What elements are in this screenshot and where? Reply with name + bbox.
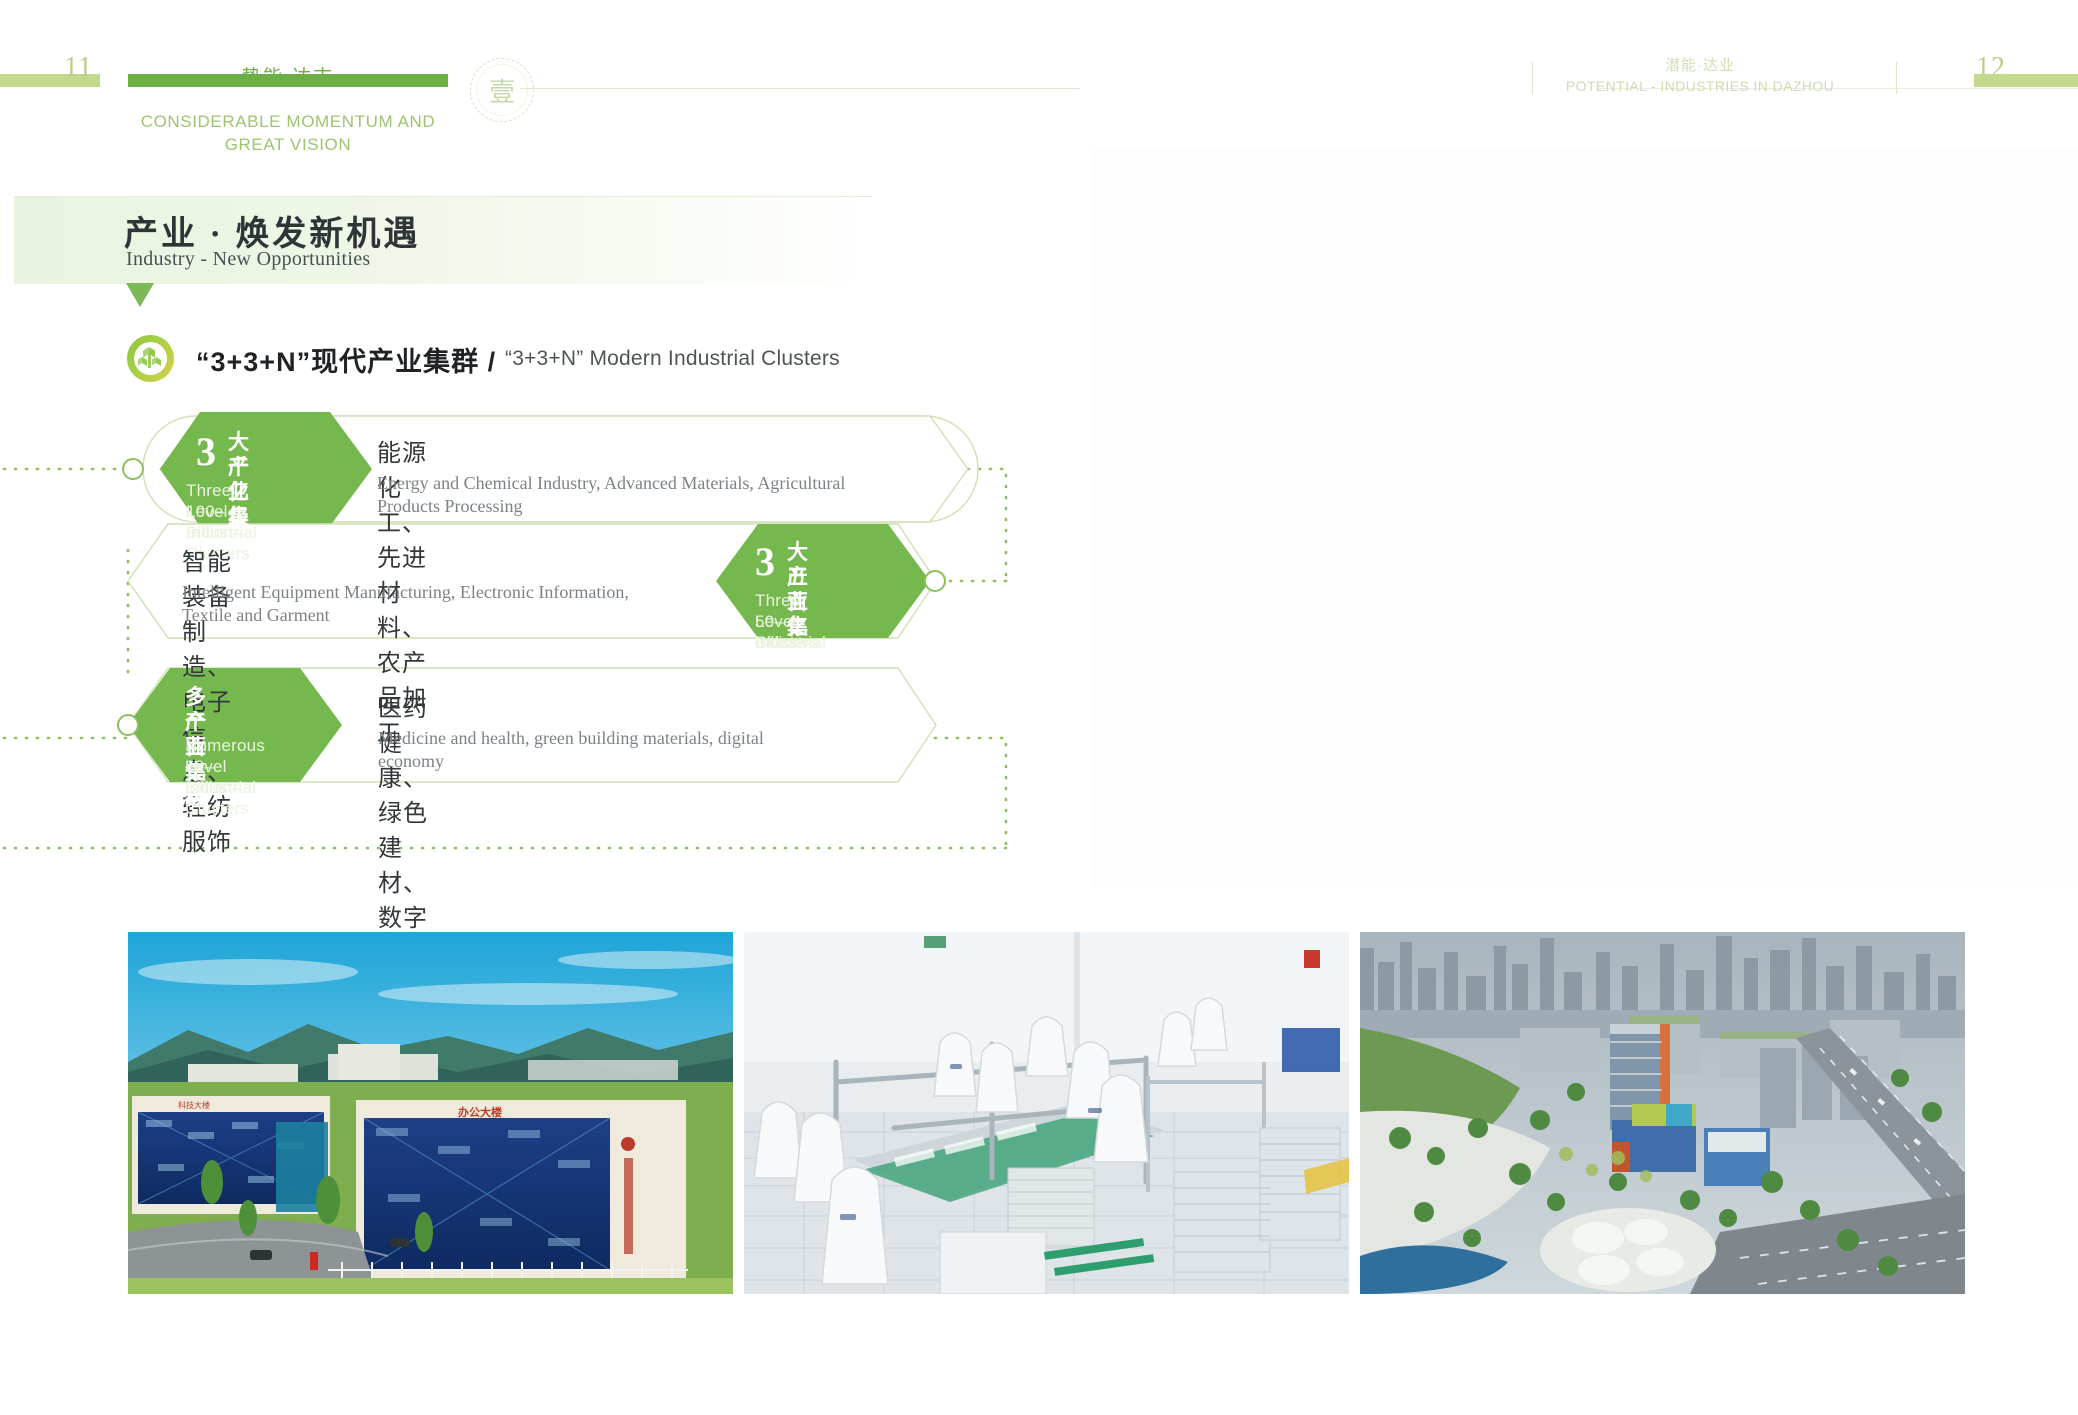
photo-office-building-campus: 科技大楼 办公大楼 (128, 932, 733, 1294)
cluster-2-body-en: Intelligent Equipment Manufacturing, Ele… (182, 581, 682, 627)
photo-cleanroom-electronics-factory (744, 932, 1349, 1294)
cluster-3-tag-en-line2: Level Industrial Clusters (185, 756, 256, 819)
header-chapter-en: POTENTIAL - INDUSTRIES IN DAZHOU (1525, 78, 1875, 94)
seal-stamp-icon: 壹 (470, 58, 534, 122)
page-title-en: Industry - New Opportunities (126, 248, 370, 271)
header-title-en: CONSIDERABLE MOMENTUM AND GREAT VISION (118, 110, 458, 156)
cluster-1-number: 3 (196, 432, 216, 472)
cluster-2-tag-en-line3: Clusters (755, 632, 819, 653)
photo-aerial-city-rendering (1360, 932, 1965, 1294)
header-chapter-cn: 潜能·达业 (1570, 54, 1830, 75)
slide-page: 11 势能·达志 CONSIDERABLE MOMENTUM AND GREAT… (0, 0, 2078, 1415)
cluster-1-body-en: Energy and Chemical Industry, Advanced M… (377, 472, 877, 518)
cluster-3-body-en: Medicine and health, green building mate… (378, 727, 808, 773)
header-title-cn: 势能·达志 (128, 62, 448, 89)
section-title-en: “3+3+N” Modern Industrial Clusters (505, 347, 840, 371)
svg-text:办公大楼: 办公大楼 (458, 1105, 502, 1119)
svg-text:科技大楼: 科技大楼 (178, 1100, 210, 1110)
industry-cluster-icon (127, 335, 174, 382)
cluster-2-number: 3 (755, 542, 775, 582)
header-rule-left (520, 88, 1080, 89)
header-bar-right (1974, 74, 2078, 87)
page-number-left: 11 (64, 52, 93, 84)
section-title-cn: “3+3+N”现代产业集群 / (196, 340, 496, 379)
title-caret-icon (126, 283, 154, 307)
header-divider-right (1896, 62, 1897, 94)
cluster-flow-diagram: 3 大千亿级 产业集群 Three 100–Billion– Level Ind… (0, 400, 1030, 880)
background-panel (1090, 148, 2078, 888)
